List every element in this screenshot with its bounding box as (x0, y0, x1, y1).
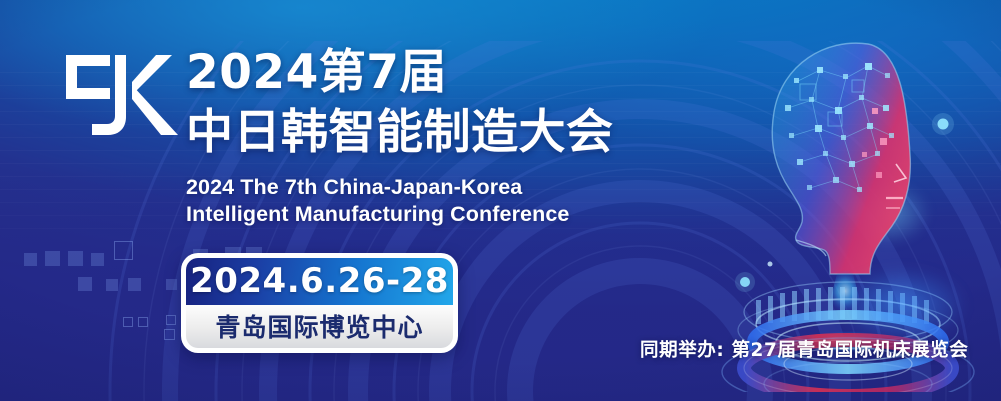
ai-head-graphic (700, 12, 1000, 392)
badge-venue-section: 青岛国际博览中心 (186, 305, 453, 348)
title-english: 2024 The 7th China-Japan-Korea Intellige… (186, 174, 706, 228)
badge-date-section: 2024.6.26-28 (186, 258, 453, 305)
title-chinese-line1: 2024第7届 (186, 44, 706, 102)
hologram-glow-upper (828, 168, 948, 258)
title-block: 2024第7届 中日韩智能制造大会 2024 The 7th China-Jap… (186, 44, 706, 228)
title-english-line1: 2024 The 7th China-Japan-Korea (186, 174, 706, 201)
cjk-logo (66, 55, 178, 135)
cohost-event-text: 同期举办: 第27届青岛国际机床展览会 (640, 336, 969, 362)
title-chinese-line2: 中日韩智能制造大会 (186, 104, 706, 162)
date-venue-badge: 2024.6.26-28 青岛国际博览中心 (181, 253, 458, 353)
event-venue: 青岛国际博览中心 (215, 308, 423, 344)
event-date: 2024.6.26-28 (190, 261, 449, 301)
conference-banner: 2024第7届 中日韩智能制造大会 2024 The 7th China-Jap… (0, 0, 1001, 401)
badge-inner: 2024.6.26-28 青岛国际博览中心 (185, 257, 454, 349)
title-english-line2: Intelligent Manufacturing Conference (186, 201, 706, 228)
